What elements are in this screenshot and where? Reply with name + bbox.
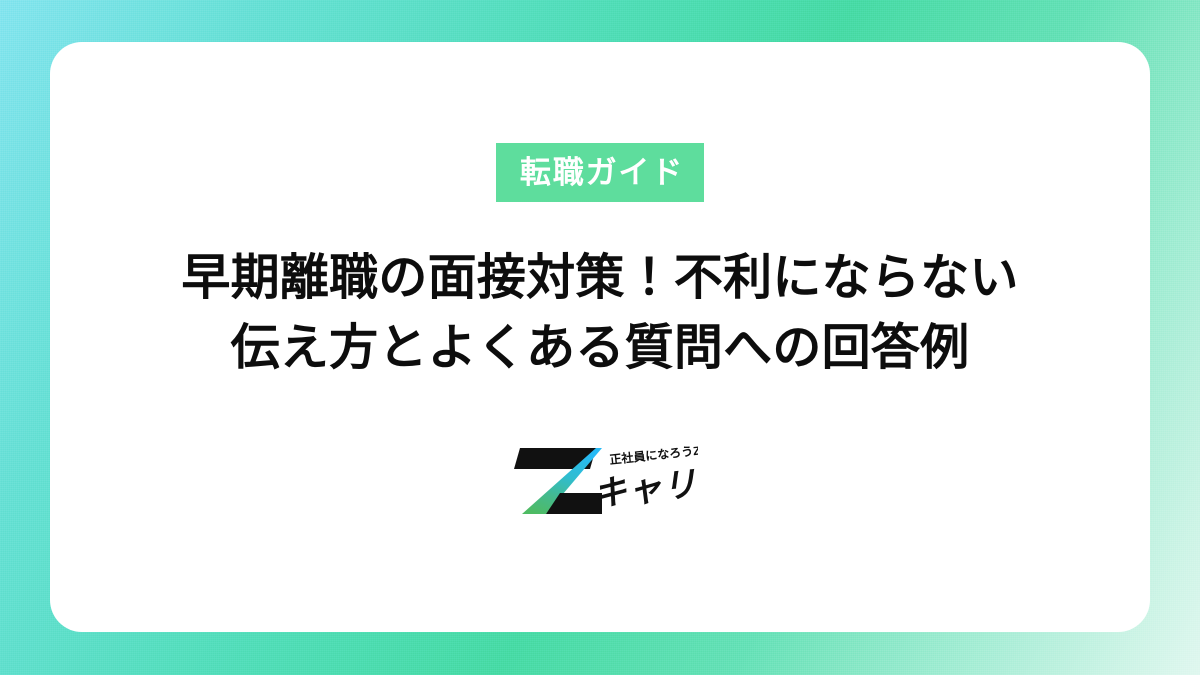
- brand-logo: 正社員になろうZ！ キャリア: [502, 436, 698, 520]
- title-heading: 早期離職の面接対策！不利にならない 伝え方とよくある質問への回答例: [141, 244, 1058, 383]
- z-career-logo-icon: 正社員になろうZ！ キャリア: [502, 436, 698, 520]
- title-line-1: 早期離職の面接対策！不利にならない: [181, 244, 1018, 314]
- content-card: 転職ガイド 早期離職の面接対策！不利にならない 伝え方とよくある質問への回答例: [50, 42, 1150, 632]
- logo-tagline-text: 正社員になろうZ！: [609, 441, 698, 467]
- z-mark-icon: [514, 448, 602, 514]
- logo-wordmark-text: キャリア: [591, 461, 698, 514]
- title-line-2: 伝え方とよくある質問への回答例: [181, 314, 1018, 384]
- page-title: 早期離職の面接対策！不利にならない 伝え方とよくある質問への回答例: [141, 244, 1058, 383]
- og-image-canvas: 転職ガイド 早期離職の面接対策！不利にならない 伝え方とよくある質問への回答例: [0, 0, 1200, 675]
- category-badge: 転職ガイド: [496, 143, 704, 202]
